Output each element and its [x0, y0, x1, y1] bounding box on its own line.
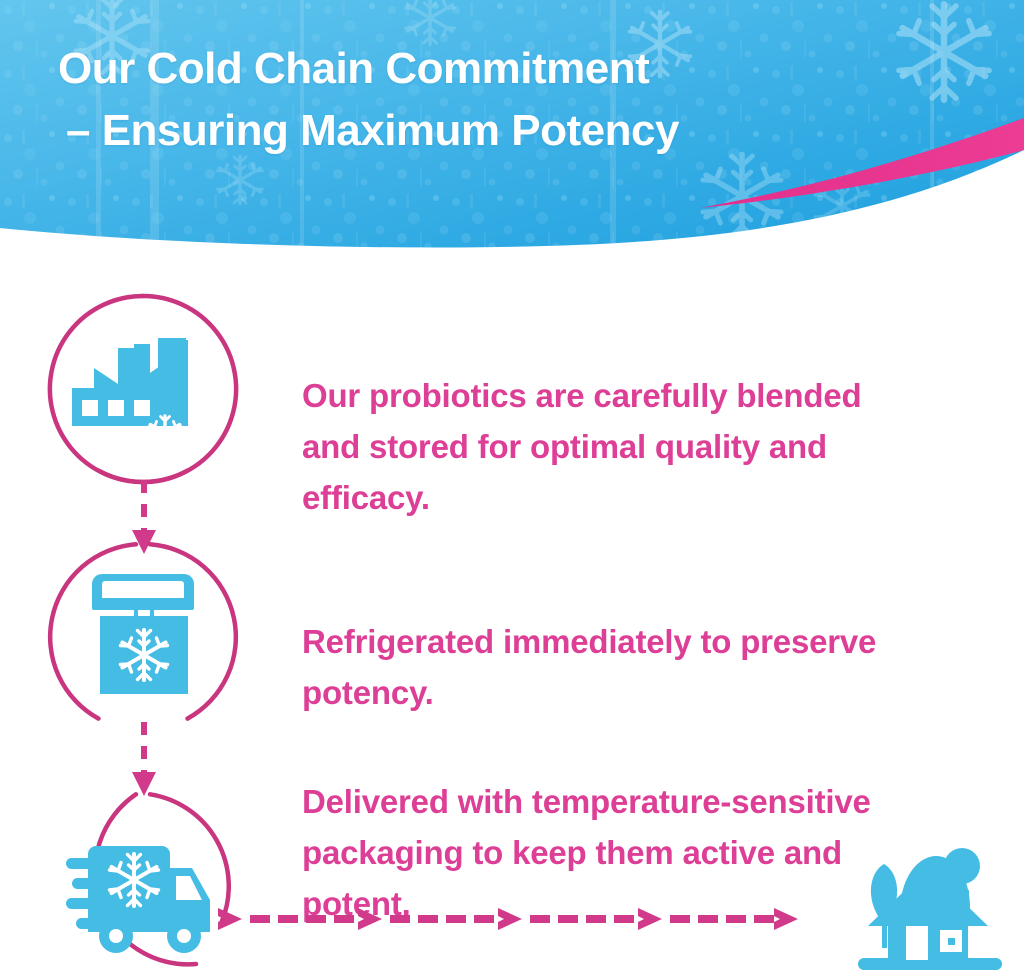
- window-pane: [948, 938, 955, 945]
- house-door: [906, 926, 928, 960]
- chimney: [960, 890, 969, 920]
- cold-chain-infographic: Our Cold Chain Commitment – Ensuring Max…: [0, 0, 1024, 980]
- step-2-text: Refrigerated immediately to preserve pot…: [302, 616, 902, 718]
- step-2-icon-circle: [46, 540, 240, 734]
- step-1-icon-circle: [46, 292, 240, 486]
- header-banner: Our Cold Chain Commitment – Ensuring Max…: [0, 0, 1024, 252]
- header-background: [0, 0, 1024, 252]
- step-1-text: Our probiotics are carefully blended and…: [302, 370, 902, 523]
- delivery-truck-snowflake-icon: [66, 846, 210, 953]
- delivery-route-arrow: [218, 902, 818, 936]
- step-3-icon-circle: [46, 790, 240, 980]
- house-with-trees-icon: [856, 838, 1004, 974]
- ground-line: [858, 958, 1002, 970]
- factory-snowflake-icon: [72, 338, 188, 426]
